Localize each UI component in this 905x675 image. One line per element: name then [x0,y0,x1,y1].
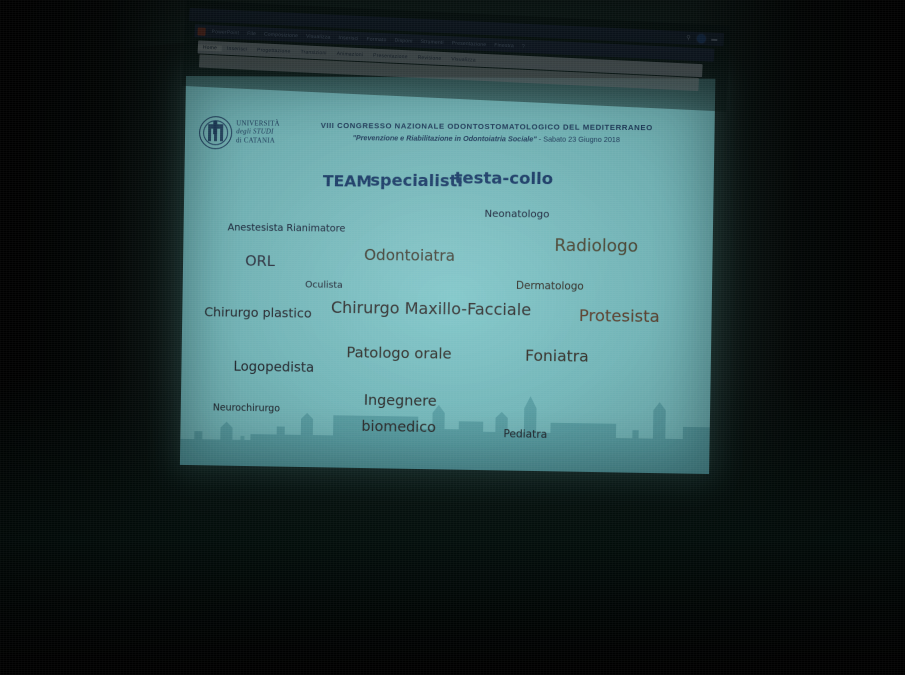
word-cloud-term: Chirurgo Maxillo-Facciale [331,300,531,318]
word-cloud-term: Odontoiatra [364,248,455,264]
tab-animazioni[interactable]: Animazioni [332,50,369,58]
menu-item-presentazione[interactable]: Presentazione [448,40,491,48]
menu-item-visualizza[interactable]: Visualizza [302,33,335,41]
menu-item-help[interactable]: ? [518,43,529,50]
word-cloud-term: specialisti [370,173,463,190]
projection-screen: UNIVERSITÀ degli STUDI di CATANIA VIII C… [180,76,715,474]
menu-item-powerpoint[interactable]: PowerPoint [207,28,243,36]
tab-inserisci[interactable]: Inserisci [222,45,252,52]
tab-revisione[interactable]: Revisione [413,54,447,62]
word-cloud-term: Logopedista [233,361,314,375]
tab-visualizza[interactable]: Visualizza [446,56,481,64]
powerpoint-logo-icon [197,27,205,35]
screenshot-root: ⚲ ▬ PowerPoint File Composizione Visuali… [0,0,905,675]
word-cloud-term: Neurochirurgo [213,403,280,413]
search-icon[interactable]: ⚲ [683,33,694,43]
word-cloud-term: TEAM [323,174,372,190]
word-cloud: TEAMspecialistitesta-colloNeonatologoAne… [180,76,715,474]
tab-progettazione[interactable]: Progettazione [252,46,296,54]
menu-item-strumenti[interactable]: Strumenti [416,38,447,45]
word-cloud-term: Chirurgo plastico [204,306,312,320]
menu-item-inserisci[interactable]: Inserisci [334,34,362,41]
slide-canvas: UNIVERSITÀ degli STUDI di CATANIA VIII C… [180,76,715,474]
menu-item-formato[interactable]: Formato [362,36,390,43]
word-cloud-term: Pediatra [503,429,547,440]
word-cloud-term: Ingegnere [364,394,437,409]
word-cloud-term: ORL [245,255,275,270]
word-cloud-term: Anestesista Rianimatore [228,223,346,234]
word-cloud-term: Patologo orale [346,346,451,362]
word-cloud-term: Oculista [305,280,343,290]
word-cloud-term: Neonatologo [484,210,549,221]
tab-presentazione[interactable]: Presentazione [368,52,413,60]
menu-item-file[interactable]: File [243,30,260,37]
menu-item-disponi[interactable]: Disponi [390,37,416,44]
word-cloud-term: Protesista [579,308,660,325]
word-cloud-term: Radiologo [554,238,638,256]
ribbon-options-icon[interactable]: ▬ [709,34,720,44]
menu-item-finestra[interactable]: Finestra [490,42,518,49]
tab-home[interactable]: Home [198,44,222,51]
word-cloud-term: Dermatologo [516,282,584,293]
word-cloud-term: biomedico [361,420,436,435]
account-avatar-icon[interactable] [697,34,706,43]
word-cloud-term: testa-collo [454,170,553,187]
tab-transizioni[interactable]: Transizioni [295,49,331,57]
word-cloud-term: Foniatra [525,349,589,365]
menu-item-composizione[interactable]: Composizione [260,31,302,39]
